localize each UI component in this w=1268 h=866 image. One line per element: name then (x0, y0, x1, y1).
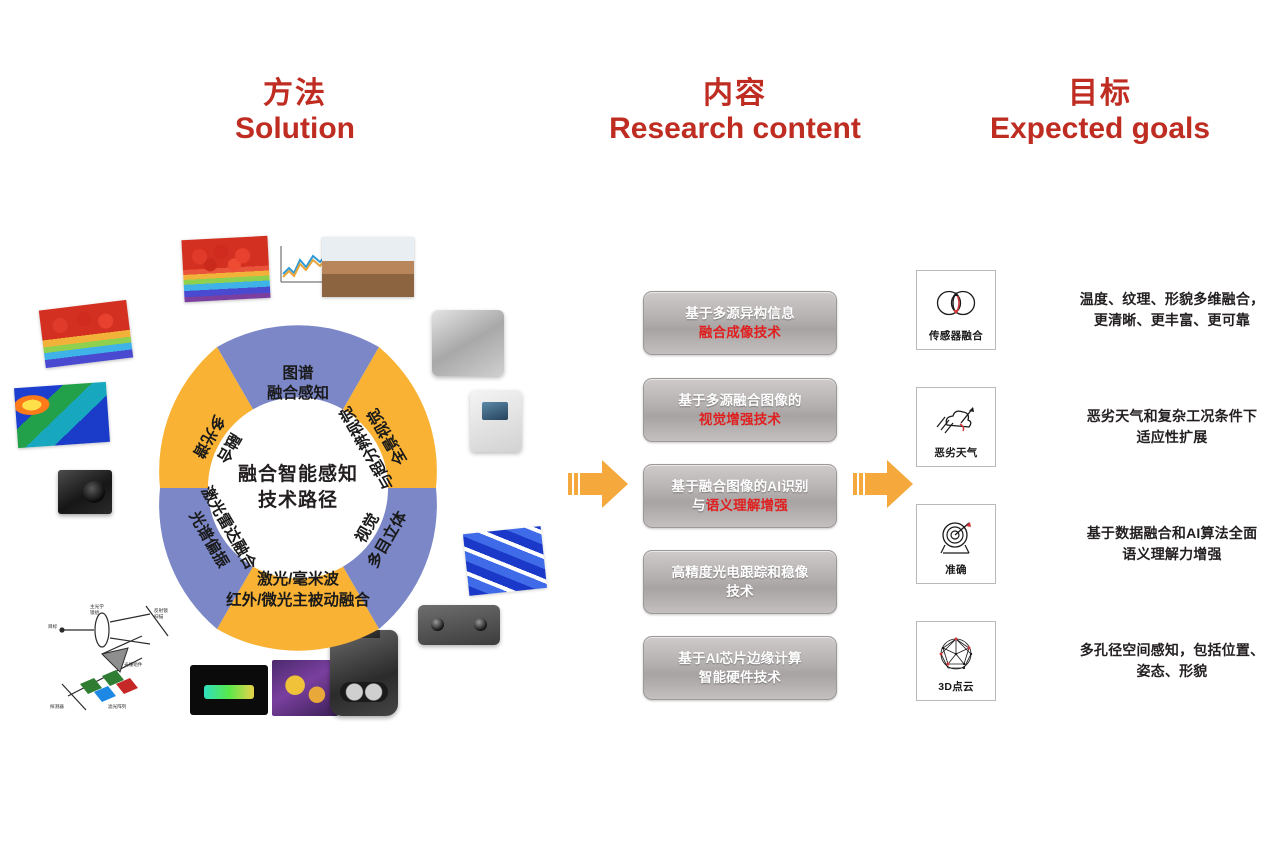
goal-text-1-line1: 温度、纹理、形貌多维融合， (1080, 291, 1265, 307)
donut-label-laser-ir-2: 红外/微光主被动融合 (226, 590, 370, 609)
column-header-solution: 方法 Solution (165, 76, 425, 147)
point-cloud-icon (934, 629, 978, 679)
technology-roadmap-donut: 图谱 融合感知 全景视觉 与超分辨视觉 多目立体 视觉 激光/毫米波 红外/微光… (118, 308, 478, 668)
goal-icon-box-2: 恶劣天气 (916, 387, 996, 467)
goal-text-2: 恶劣天气和复杂工况条件下 适应性扩展 (1038, 406, 1268, 449)
column-header-goals: 目标 Expected goals (970, 76, 1230, 147)
goal-caption-3: 准确 (945, 562, 967, 577)
column-header-solution-cn: 方法 (165, 76, 425, 111)
research-item-3-line2-prefix: 与 (692, 498, 706, 513)
research-item-1-line1: 基于多源异构信息 (685, 306, 795, 321)
research-item-5-line2: 智能硬件技术 (699, 670, 781, 685)
goal-caption-4: 3D点云 (938, 679, 974, 694)
research-item-2[interactable]: 基于多源融合图像的 视觉增强技术 (643, 378, 837, 442)
bad-weather-icon (933, 395, 979, 445)
arrow-content-to-goals (853, 455, 915, 518)
goal-row-2: 恶劣天气 恶劣天气和复杂工况条件下 适应性扩展 (916, 387, 1268, 467)
donut-label-spectral-fusion-2: 融合感知 (267, 383, 329, 402)
research-item-2-line2: 视觉增强技术 (699, 412, 781, 427)
research-item-2-text: 基于多源融合图像的 视觉增强技术 (678, 391, 801, 429)
research-item-4-text: 高精度光电跟踪和稳像 技术 (672, 563, 809, 601)
research-item-3-text: 基于融合图像的AI识别 与语义理解增强 (671, 477, 808, 515)
goal-icon-box-3: 准确 (916, 504, 996, 584)
goal-text-1: 温度、纹理、形貌多维融合， 更清晰、更丰富、更可靠 (1038, 289, 1268, 332)
goal-text-1-line2: 更清晰、更丰富、更可靠 (1094, 312, 1250, 328)
thermal-camera-photo (58, 470, 112, 514)
goal-row-1: 传感器融合 温度、纹理、形貌多维融合， 更清晰、更丰富、更可靠 (916, 270, 1268, 350)
svg-text:主光学: 主光学 (90, 603, 104, 610)
research-item-1-line2: 融合成像技术 (699, 325, 781, 340)
goal-text-4-line2: 姿态、形貌 (1137, 663, 1208, 679)
goal-text-4: 多孔径空间感知，包括位置、 姿态、形貌 (1038, 640, 1268, 683)
research-item-5-line1: 基于AI芯片边缘计算 (678, 651, 802, 666)
svg-text:滤光阵列: 滤光阵列 (108, 703, 127, 710)
goal-text-4-line1: 多孔径空间感知，包括位置、 (1080, 642, 1265, 658)
spectral-cube-image (181, 236, 270, 302)
research-item-1-text: 基于多源异构信息 融合成像技术 (685, 304, 795, 342)
donut-label-laser-ir-1: 激光/毫米波 (257, 569, 339, 588)
research-item-3-line2: 语义理解增强 (706, 498, 788, 513)
goal-text-2-line1: 恶劣天气和复杂工况条件下 (1087, 408, 1257, 424)
research-item-5-text: 基于AI芯片边缘计算 智能硬件技术 (678, 649, 802, 687)
goal-text-3-line2: 语义理解力增强 (1122, 546, 1221, 562)
research-item-4[interactable]: 高精度光电跟踪和稳像 技术 (643, 550, 837, 614)
point-cloud-image (190, 665, 268, 715)
research-item-4-line1: 高精度光电跟踪和稳像 (672, 565, 809, 580)
research-item-4-line2: 技术 (726, 584, 753, 599)
thermal-image (14, 382, 110, 448)
pipeline-inspection-photo (322, 237, 414, 297)
goal-row-4: 3D点云 多孔径空间感知，包括位置、 姿态、形貌 (916, 621, 1268, 701)
infrared-image (272, 660, 338, 716)
goal-icon-box-4: 3D点云 (916, 621, 996, 701)
diagram-canvas: 方法 Solution 内容 Research content 目标 Expec… (0, 0, 1268, 866)
goal-caption-1: 传感器融合 (929, 328, 983, 343)
svg-text:镜组: 镜组 (90, 609, 100, 616)
research-item-1[interactable]: 基于多源异构信息 融合成像技术 (643, 291, 837, 355)
goal-text-2-line2: 适应性扩展 (1137, 429, 1208, 445)
goal-text-3: 基于数据融合和AI算法全面 语义理解力增强 (1038, 523, 1268, 566)
sensor-fusion-icon (933, 278, 979, 328)
svg-text:探测器: 探测器 (50, 703, 64, 710)
research-item-5[interactable]: 基于AI芯片边缘计算 智能硬件技术 (643, 636, 837, 700)
column-header-content-cn: 内容 (600, 76, 870, 111)
target-accuracy-icon (933, 512, 979, 562)
column-header-solution-en: Solution (165, 111, 425, 146)
research-item-3[interactable]: 基于融合图像的AI识别 与语义理解增强 (643, 464, 837, 528)
donut-label-spectral-fusion-1: 图谱 (282, 363, 314, 382)
goal-row-3: 准确 基于数据融合和AI算法全面 语义理解力增强 (916, 504, 1268, 584)
goal-caption-2: 恶劣天气 (934, 445, 977, 460)
column-header-content: 内容 Research content (600, 76, 870, 147)
research-item-2-line1: 基于多源融合图像的 (678, 393, 801, 408)
research-item-3-line1: 基于融合图像的AI识别 (671, 479, 808, 494)
column-header-goals-en: Expected goals (970, 111, 1230, 146)
column-header-content-en: Research content (600, 111, 870, 146)
column-header-goals-cn: 目标 (970, 76, 1230, 111)
goal-icon-box-1: 传感器融合 (916, 270, 996, 350)
svg-text:目标: 目标 (48, 623, 58, 630)
goal-text-3-line1: 基于数据融合和AI算法全面 (1087, 525, 1258, 541)
arrow-solution-to-content (568, 455, 630, 518)
